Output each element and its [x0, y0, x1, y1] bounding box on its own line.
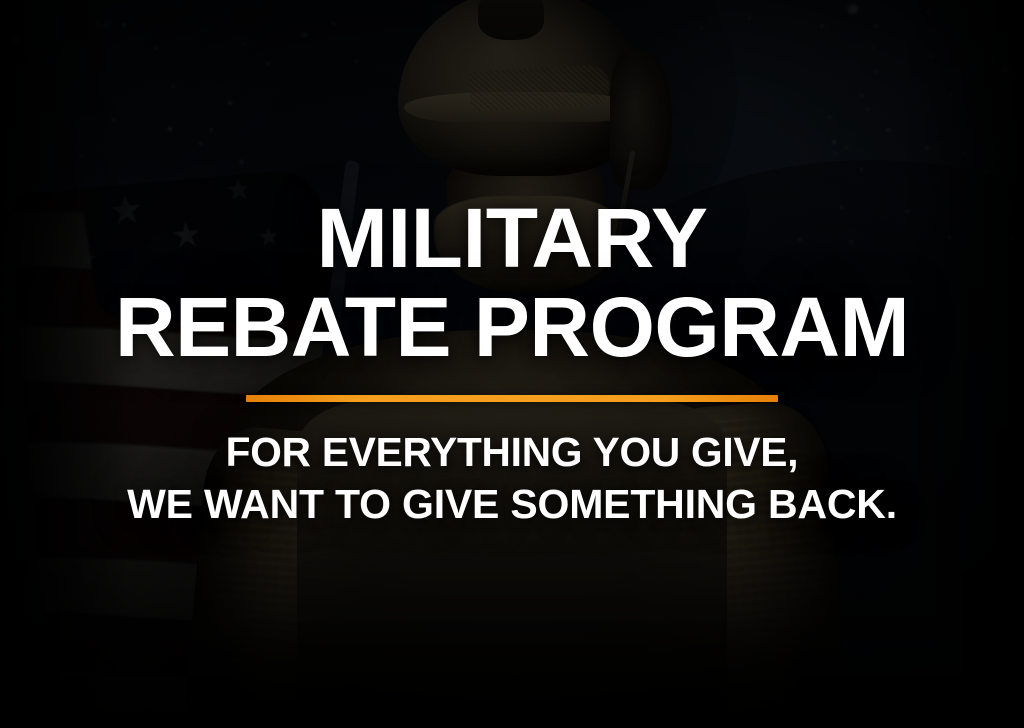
subheadline-line-2: WE WANT TO GIVE SOMETHING BACK.: [0, 480, 1024, 528]
headline-line-1: MILITARY: [0, 198, 1024, 279]
headline-line-2: REBATE PROGRAM: [0, 287, 1024, 368]
military-rebate-hero-banner: MILITARY REBATE PROGRAM FOR EVERYTHING Y…: [0, 0, 1024, 728]
subheadline-line-1: FOR EVERYTHING YOU GIVE,: [5, 428, 1019, 476]
headline: MILITARY REBATE PROGRAM: [0, 0, 1024, 369]
subheadline: FOR EVERYTHING YOU GIVE, WE WANT TO GIVE…: [0, 428, 1024, 529]
text-overlay: MILITARY REBATE PROGRAM FOR EVERYTHING Y…: [0, 0, 1024, 728]
orange-divider-rule: [246, 395, 778, 402]
